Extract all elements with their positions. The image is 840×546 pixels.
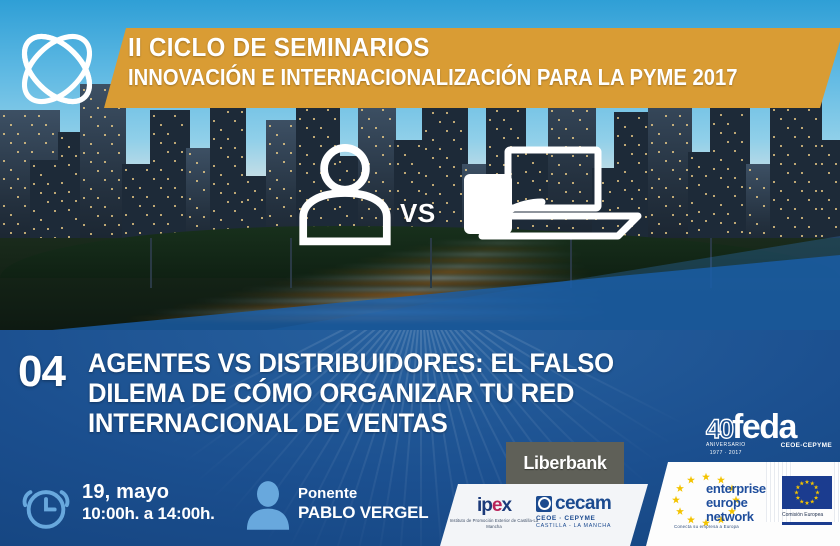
eu-flag-icon bbox=[782, 476, 832, 509]
cecam-logo: cecam CEOE · CEPYME CASTILLA - LA MANCHA bbox=[536, 494, 638, 529]
cecam-mark-icon bbox=[536, 496, 552, 512]
eu-bar-decoration bbox=[782, 522, 832, 525]
speaker-name: PABLO VERGEL bbox=[298, 503, 428, 523]
handshake-laptop-icon bbox=[442, 140, 642, 250]
ipex-subtitle: Instituto de Promoción Exterior de Casti… bbox=[448, 518, 540, 529]
header-title-line2: INNOVACIÓN E INTERNACIONALIZACIÓN PARA L… bbox=[128, 66, 738, 89]
speaker-block: Ponente PABLO VERGEL bbox=[298, 485, 428, 523]
hero-icon-group: VS bbox=[290, 138, 610, 268]
event-time: 10:00h. a 14:00h. bbox=[82, 504, 215, 524]
date-block: 19, mayo 10:00h. a 14:00h. bbox=[82, 481, 215, 524]
cecam-row: cecam bbox=[536, 494, 638, 513]
session-number: 04 bbox=[18, 350, 65, 394]
feda-row: 40 feda bbox=[706, 414, 832, 441]
cecam-sub1: CEOE · CEPYME bbox=[536, 515, 638, 522]
european-commission-logo: Comisión Europea bbox=[782, 476, 836, 525]
cecam-sub2: CASTILLA - LA MANCHA bbox=[536, 523, 638, 529]
een-tagline: Conecta su empresa a Europa bbox=[674, 524, 739, 529]
een-wordmark: enterprise europe network bbox=[706, 482, 766, 524]
person-icon bbox=[290, 138, 400, 248]
liberbank-label: Liberbank bbox=[523, 453, 606, 474]
een-line1: enterprise bbox=[706, 482, 766, 496]
session-title: AGENTES VS DISTRIBUIDORES: EL FALSO DILE… bbox=[88, 348, 696, 439]
feda-forty: 40 bbox=[706, 418, 732, 441]
feda-org: CEOE-CEPYME bbox=[781, 442, 832, 457]
cecam-wordmark: cecam bbox=[555, 494, 611, 513]
event-date: 19, mayo bbox=[82, 481, 215, 504]
seminar-poster: II CICLO DE SEMINARIOS INNOVACIÓN E INTE… bbox=[0, 0, 840, 546]
vs-label: VS bbox=[400, 198, 436, 229]
sponsor-panel-right: enterprise europe network Conecta su emp… bbox=[646, 462, 840, 546]
sponsor-panel-left: ipex Instituto de Promoción Exterior de … bbox=[440, 484, 648, 546]
atom-orbit-icon bbox=[10, 22, 104, 116]
feda-anniversary-text: ANIVERSARIO bbox=[706, 442, 746, 450]
header-title-line1: II CICLO DE SEMINARIOS bbox=[128, 34, 430, 60]
feda-wordmark: feda bbox=[732, 414, 796, 441]
enterprise-europe-network-logo: enterprise europe network Conecta su emp… bbox=[672, 472, 778, 534]
ipex-wordmark: ipex bbox=[448, 496, 540, 515]
ipex-logo: ipex Instituto de Promoción Exterior de … bbox=[448, 496, 540, 529]
alarm-clock-icon bbox=[20, 480, 72, 532]
eu-caption: Comisión Europea bbox=[782, 512, 836, 519]
speaker-label: Ponente bbox=[298, 485, 428, 503]
feda-years: 1977 · 2017 bbox=[706, 450, 746, 458]
eu-flag-stars bbox=[782, 476, 832, 509]
een-line3: network bbox=[706, 510, 766, 524]
feda-logo: 40 feda ANIVERSARIO 1977 · 2017 CEOE-CEP… bbox=[706, 414, 832, 457]
feda-anniversary: ANIVERSARIO 1977 · 2017 bbox=[706, 442, 746, 457]
een-line2: europe bbox=[706, 496, 766, 510]
speaker-avatar-icon bbox=[246, 480, 290, 530]
liberbank-logo: Liberbank bbox=[506, 442, 624, 484]
